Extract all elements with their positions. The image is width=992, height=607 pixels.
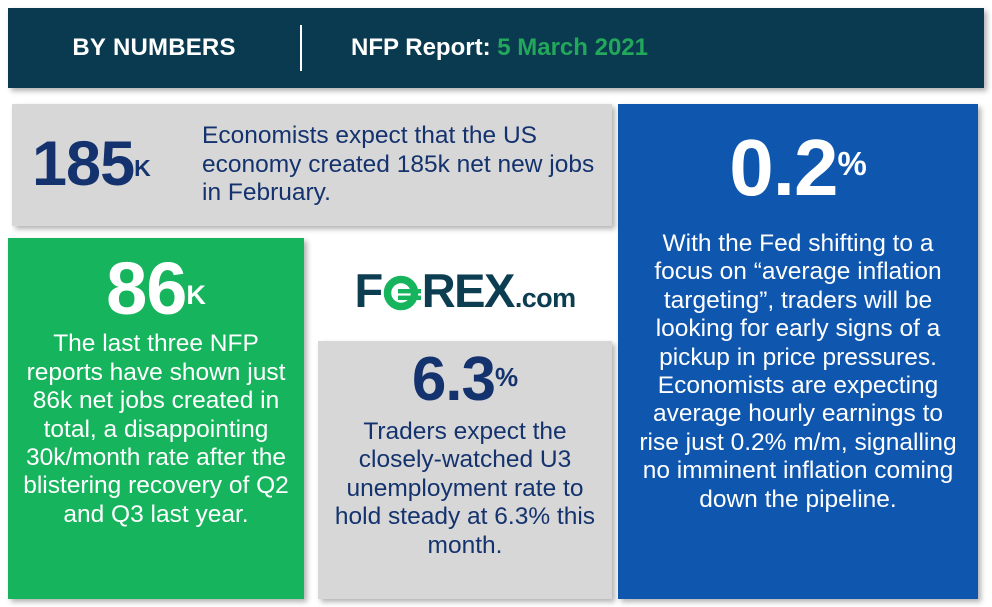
stat-unit-unemployment: % [495,362,518,392]
stat-unit-jobs-actual: K [186,280,206,310]
stat-body-jobs-expected: Economists expect that the US economy cr… [198,122,598,207]
stat-value-group-jobs-actual: 86K [18,254,294,324]
header-title-light: BY [72,34,106,61]
forex-logo-rex: REX [422,267,514,314]
forex-logo: F REX .com [318,250,612,330]
infographic-root: BY NUMBERS NFP Report: 5 March 2021 185K… [0,0,992,607]
stat-value-group-jobs-expected: 185K [32,135,198,195]
stat-body-jobs-actual: The last three NFP reports have shown ju… [18,330,294,529]
stat-card-earnings: 0.2% With the Fed shifting to a focus on… [618,104,978,599]
euro-o-icon [383,274,421,312]
stat-value-earnings: 0.2 [729,130,837,206]
forex-logo-f: F [355,267,382,314]
header-title: BY NUMBERS [8,34,300,62]
stat-unit-earnings: % [837,145,866,182]
stat-value-jobs-actual: 86 [106,254,186,324]
stat-value-group-earnings: 0.2% [632,130,964,206]
stat-body-unemployment: Traders expect the closely-watched U3 un… [326,418,604,560]
header-report-date: 5 March 2021 [497,34,648,61]
stat-unit-jobs-expected: K [134,155,151,181]
header-report-label: NFP Report: [351,34,491,61]
stat-card-jobs-actual: 86K The last three NFP reports have show… [8,238,304,599]
forex-logo-tld: .com [515,285,576,312]
forex-logo-row: F REX .com [355,267,576,314]
header-bar: BY NUMBERS NFP Report: 5 March 2021 [8,8,984,88]
header-title-bold: NUMBERS [113,34,236,61]
stat-value-group-unemployment: 6.3% [326,351,604,410]
stat-body-earnings: With the Fed shifting to a focus on “ave… [632,230,964,514]
stat-card-jobs-expected: 185K Economists expect that the US econo… [12,104,612,226]
stat-card-unemployment: 6.3% Traders expect the closely-watched … [318,341,612,599]
stat-value-unemployment: 6.3 [412,351,495,410]
header-report: NFP Report: 5 March 2021 [302,34,648,62]
stat-value-jobs-expected: 185 [32,129,134,199]
